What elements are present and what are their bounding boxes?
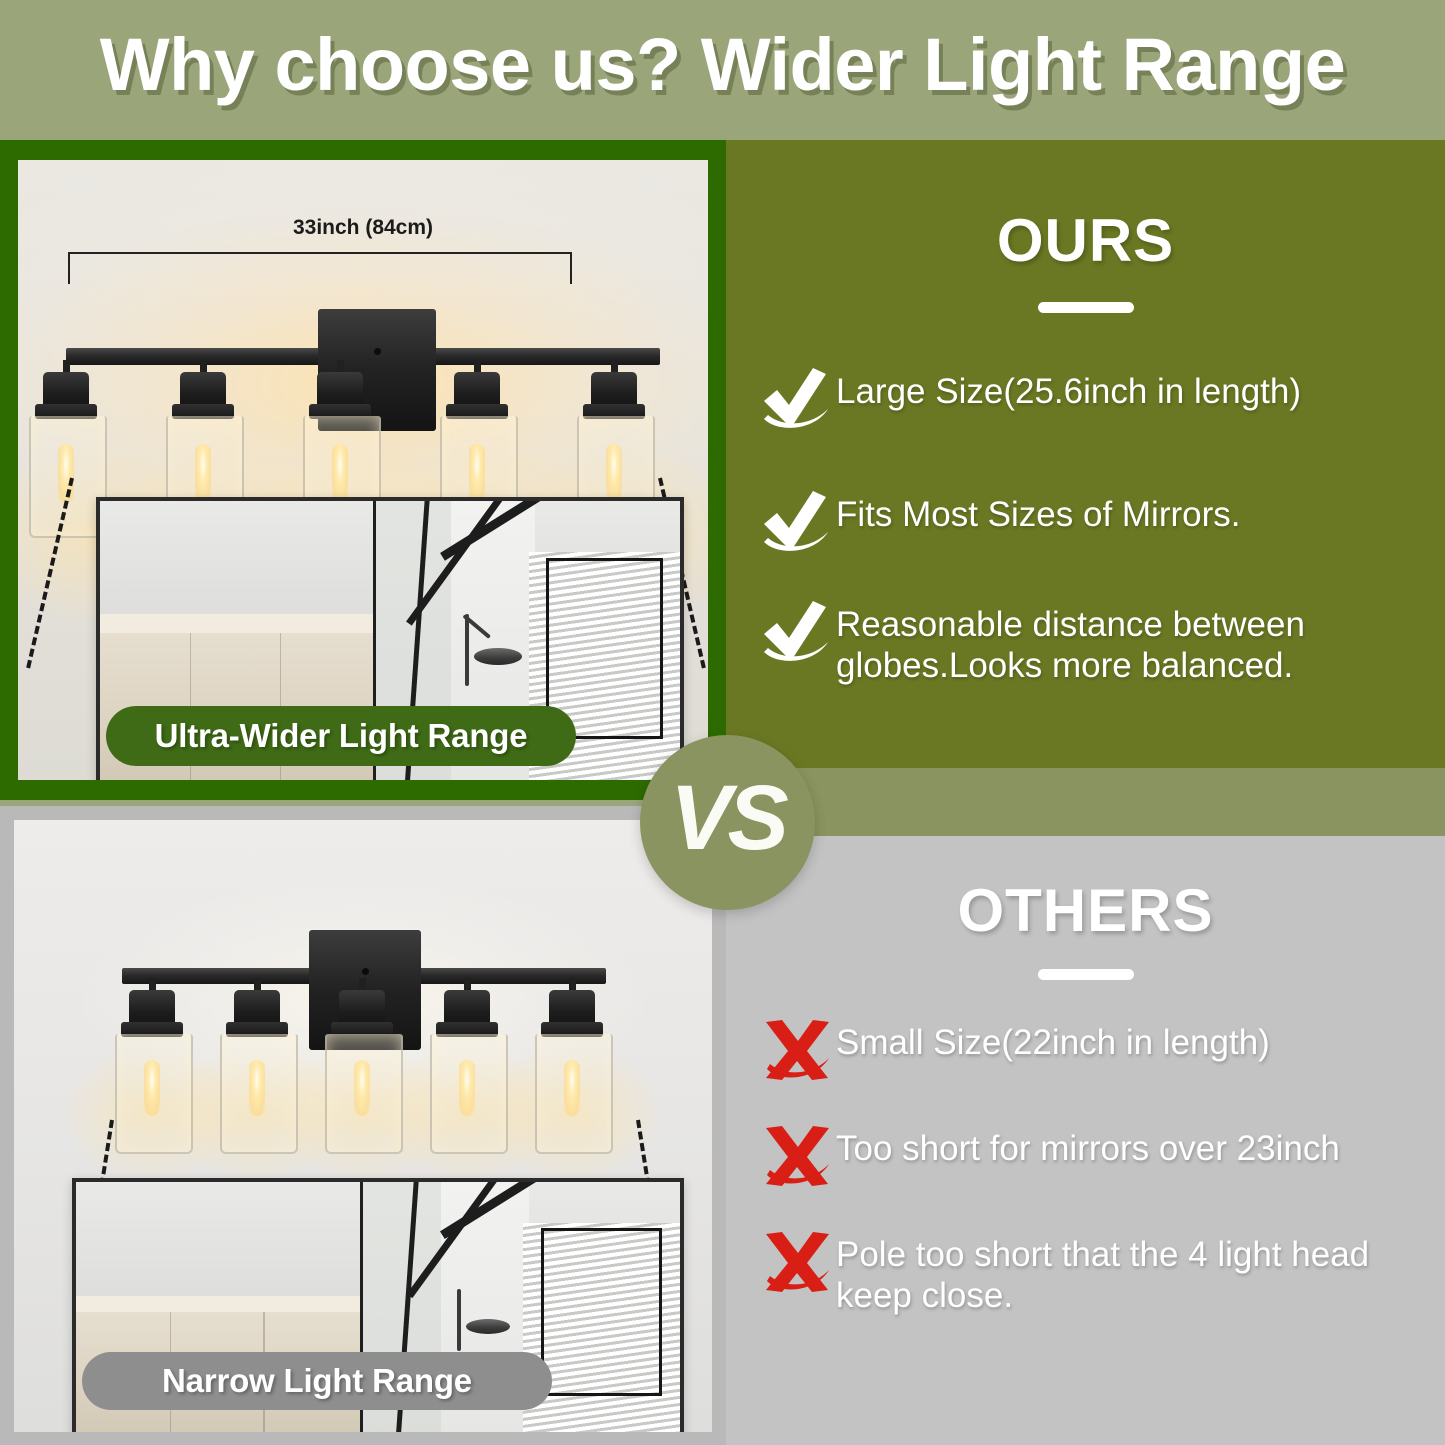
- ours-heading: OURS: [726, 206, 1445, 275]
- others-heading-rule: [1038, 969, 1134, 980]
- infographic-page: Why choose us? Wider Light Range 33inch …: [0, 0, 1445, 1445]
- cross-icon: [758, 1228, 836, 1298]
- ours-feature-2: Fits Most Sizes of Mirrors.: [758, 488, 1428, 558]
- others-issue-2: Too short for mirrors over 23inch: [758, 1122, 1445, 1192]
- others-issue-3-label: Pole too short that the 4 light head kee…: [836, 1228, 1428, 1317]
- ours-product-photo: 33inch (84cm): [0, 140, 726, 800]
- header-band: Why choose us? Wider Light Range: [0, 0, 1445, 140]
- others-issue-2-label: Too short for mirrors over 23inch: [836, 1122, 1340, 1169]
- ultra-wider-badge: Ultra-Wider Light Range: [106, 706, 576, 766]
- page-title: Why choose us? Wider Light Range: [0, 22, 1445, 107]
- dimension-label: 33inch (84cm): [18, 216, 708, 240]
- narrow-range-badge-label: Narrow Light Range: [162, 1362, 472, 1400]
- vs-badge: VS: [640, 735, 815, 910]
- ours-feature-3: Reasonable distance between globes.Looks…: [758, 598, 1445, 687]
- vs-badge-label: VS: [670, 766, 785, 871]
- ours-feature-1: Large Size(25.6inch in length): [758, 365, 1428, 435]
- others-issue-3: Pole too short that the 4 light head kee…: [758, 1228, 1428, 1317]
- ultra-wider-badge-label: Ultra-Wider Light Range: [155, 717, 528, 755]
- check-icon: [758, 488, 836, 558]
- ours-feature-1-label: Large Size(25.6inch in length): [836, 365, 1301, 412]
- check-icon: [758, 598, 836, 668]
- others-product-photo: Narrow Light Range: [0, 806, 726, 1445]
- ours-heading-rule: [1038, 302, 1134, 313]
- narrow-range-badge: Narrow Light Range: [82, 1352, 552, 1410]
- others-issue-1: Small Size(22inch in length): [758, 1016, 1438, 1086]
- check-icon: [758, 365, 836, 435]
- others-issue-1-label: Small Size(22inch in length): [836, 1016, 1270, 1063]
- panel-divider-band: [726, 768, 1445, 836]
- others-panel: OTHERS Small Size(22inch in length) Too …: [726, 836, 1445, 1445]
- ours-panel: OURS Large Size(25.6inch in length) Fits…: [726, 140, 1445, 768]
- ours-feature-2-label: Fits Most Sizes of Mirrors.: [836, 488, 1240, 535]
- cross-icon: [758, 1016, 836, 1086]
- vanity-light-fixture-narrow: [14, 898, 712, 1198]
- ours-feature-3-label: Reasonable distance between globes.Looks…: [836, 598, 1445, 687]
- cross-icon: [758, 1122, 836, 1192]
- others-heading: OTHERS: [726, 876, 1445, 945]
